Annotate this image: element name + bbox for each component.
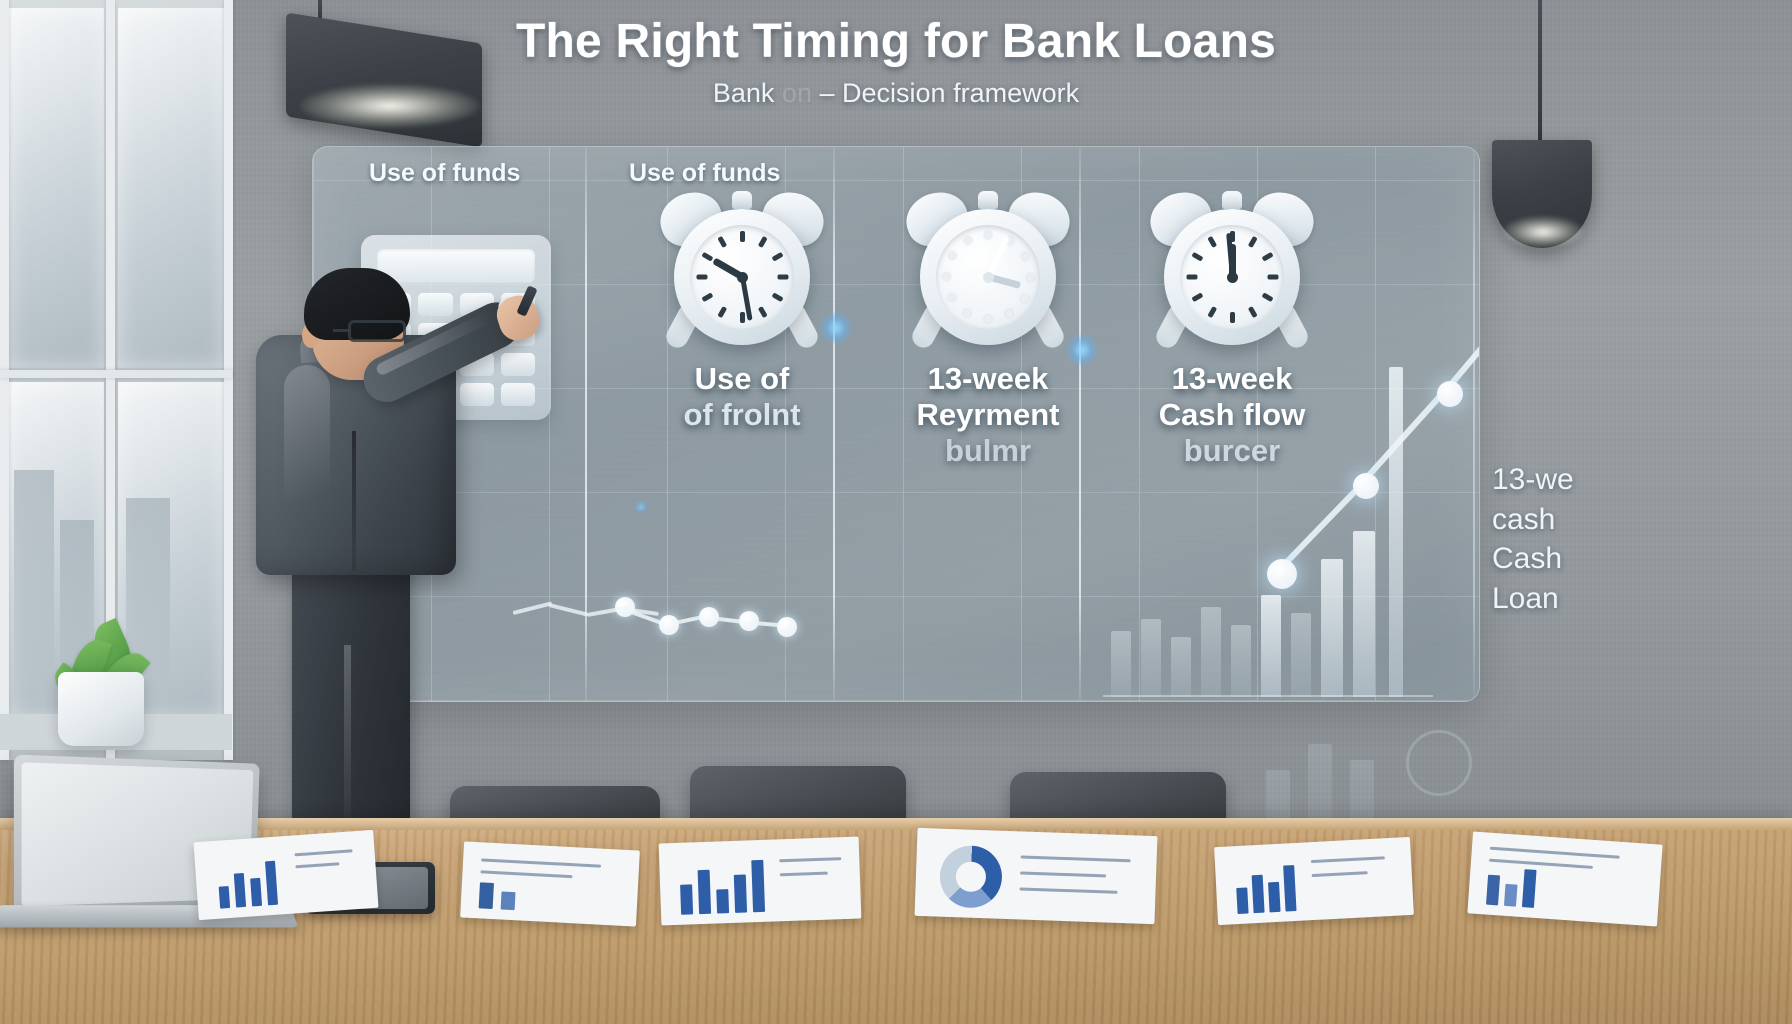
window-mullion [0,0,9,760]
card-line: Reyrment [859,397,1117,433]
board-top-label-2: Use of funds [629,159,780,188]
label-line: Cash [1492,539,1574,579]
subtitle-faded-word: on [782,78,812,108]
table-edge [0,818,1792,830]
paper-document[interactable] [915,828,1158,924]
card-line: Use of [613,361,871,397]
page-title: The Right Timing for Bank Loans [0,14,1792,69]
board-top-label-1: Use of funds [369,159,520,188]
glow-sparkle [1065,333,1099,367]
calculator-screen [377,249,535,283]
card-line: of frolnt [613,397,871,433]
glow-sparkle [819,311,853,345]
paper-document[interactable] [1467,831,1662,926]
page-subtitle: Bank on – Decision framework [0,78,1792,109]
label-line: cash [1492,500,1574,540]
card-line: bulmr [859,433,1117,469]
alarm-clock-icon [652,191,832,351]
card-repayment[interactable]: 13-week Reyrment bulmr [859,191,1117,469]
paper-document[interactable] [460,841,640,926]
alarm-clock-icon [898,191,1078,351]
window-mullion [0,370,232,378]
card-title-1: Use of of frolnt [613,361,871,433]
paper-document[interactable] [659,837,862,926]
office-scene: The Right Timing for Bank Loans Bank on … [0,0,1792,1024]
city-building [14,470,54,700]
eyeglasses-icon [348,320,406,342]
right-edge-label: 13-we cash Cash Loan [1492,460,1574,618]
plant-pot [58,672,144,746]
subtitle-suffix: – Decision framework [820,78,1080,108]
paper-document[interactable] [193,830,378,920]
person-businessman [236,280,556,840]
window-mullion [224,0,233,760]
label-line: 13-we [1492,460,1574,500]
subtitle-prefix: Bank [713,78,775,108]
wall-pie-outline [1406,730,1472,796]
card-title-2: 13-week Reyrment bulmr [859,361,1117,469]
label-line: Loan [1492,579,1574,619]
glow-sparkle [633,499,649,515]
lamp-glow [1502,216,1584,248]
bar-chart-right [1103,517,1480,697]
paper-document[interactable] [1214,837,1414,925]
